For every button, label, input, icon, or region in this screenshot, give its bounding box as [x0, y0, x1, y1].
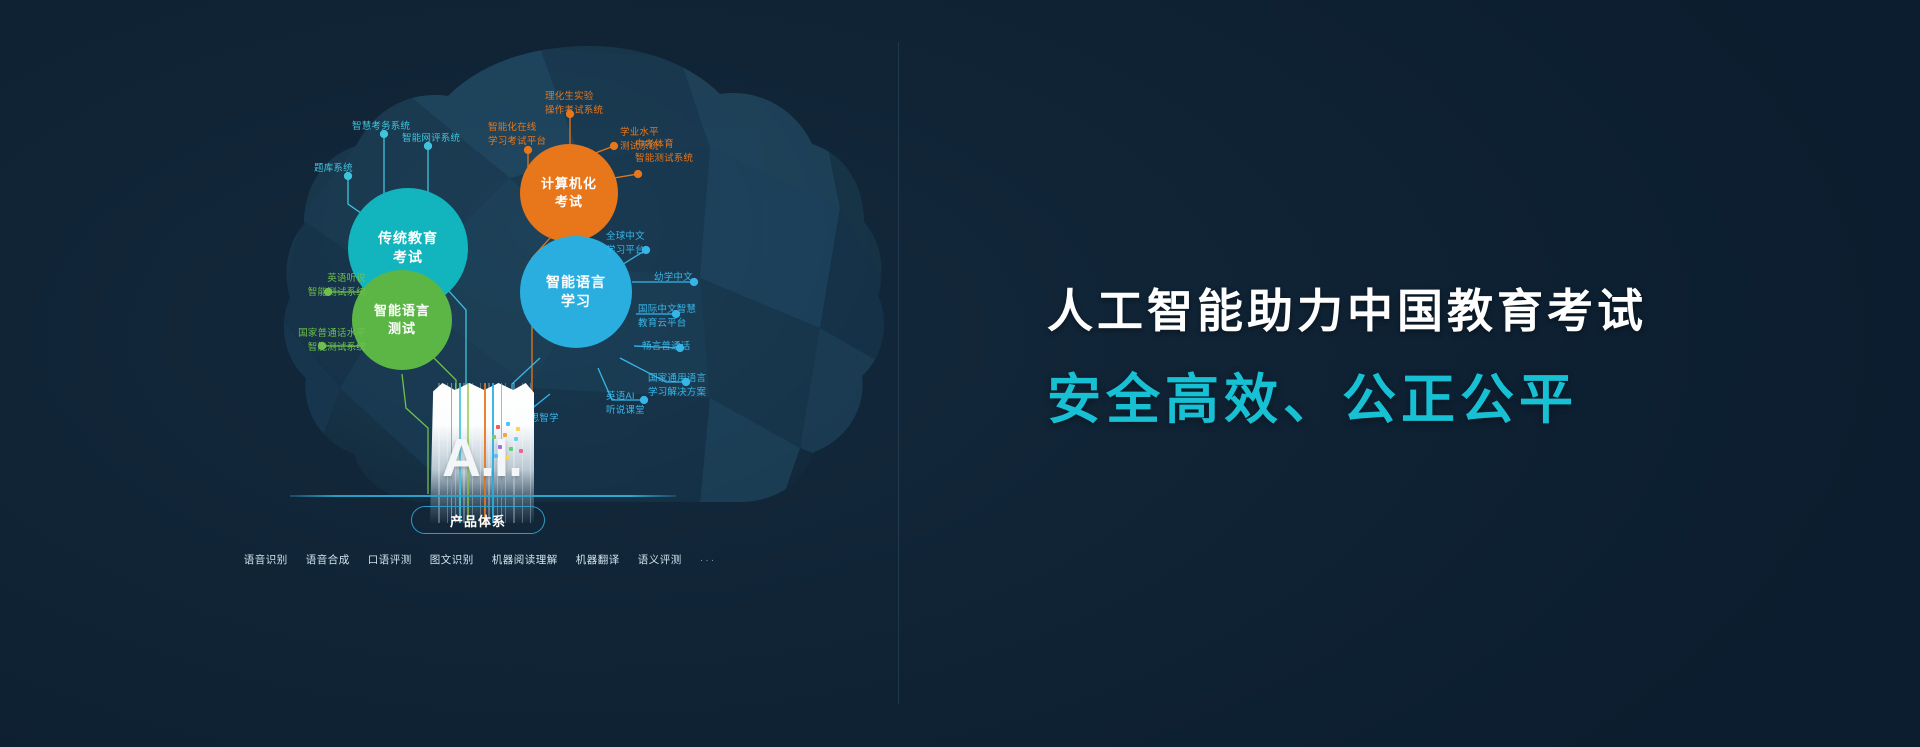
tag-item[interactable]: 语音合成	[306, 552, 350, 567]
sparkle-icons	[490, 421, 530, 461]
capability-tag-list: 语音识别 语音合成 口语评测 图文识别 机器阅读理解 机器翻译 语义评测 ···	[280, 552, 680, 567]
leaf-label-zaixian-pingtai[interactable]: 智能化在线 学习考试平台	[488, 121, 546, 149]
tag-item[interactable]: 口语评测	[368, 552, 412, 567]
headline-secondary: 安全高效、公正公平	[1047, 371, 1807, 430]
node-label-line2: 考试	[555, 193, 583, 211]
leaf-label-guojia-tongyong[interactable]: 国家通用语言 学习解决方案	[648, 372, 706, 400]
horizontal-rule	[290, 495, 676, 497]
node-label-line1: 智能语言	[374, 302, 430, 320]
node-label-line1: 传统教育	[378, 229, 438, 248]
ai-trunk: A.I.	[430, 383, 534, 523]
brain-tree-diagram: 传统教育 考试 计算机化 考试 智能语言 学习 智能语言 测试 智慧考务系统 智…	[280, 28, 900, 728]
leaf-label-changyan[interactable]: 畅言普通话	[642, 340, 691, 354]
node-label-line1: 计算机化	[541, 175, 597, 193]
product-system-badge[interactable]: 产品体系	[411, 506, 545, 534]
tag-item[interactable]: 语音识别	[244, 552, 288, 567]
leaf-label-yingyu-tingshuo[interactable]: 英语听说 智能测试系统	[280, 272, 366, 300]
tag-item[interactable]: 图文识别	[430, 552, 474, 567]
leaf-label-guojia-putonghua[interactable]: 国家普通话水平 智能测试系统	[280, 327, 366, 355]
tag-item[interactable]: 语义评测	[638, 552, 682, 567]
node-label-line1: 智能语言	[546, 273, 606, 292]
headline-primary: 人工智能助力中国教育考试	[1047, 286, 1807, 337]
leaf-label-yingyu-ai[interactable]: 英语AI 听说课堂	[606, 390, 645, 418]
node-label-line2: 学习	[561, 292, 591, 311]
headline-block: 人工智能助力中国教育考试 安全高效、公正公平	[1047, 286, 1807, 430]
tag-item[interactable]: 机器翻译	[576, 552, 620, 567]
leaf-label-zhongkao-tiyu[interactable]: 中考体育 智能测试系统	[635, 138, 693, 166]
leaf-label-tiku[interactable]: 题库系统	[314, 162, 353, 176]
node-label-line2: 考试	[393, 248, 423, 267]
tag-item-more[interactable]: ···	[700, 554, 717, 566]
leaf-label-zhineng-wangping[interactable]: 智能网评系统	[402, 132, 460, 146]
node-intelligent-language-testing[interactable]: 智能语言 测试	[352, 270, 452, 370]
leaf-label-quanqiu-zhongwen[interactable]: 全球中文 学习平台	[606, 230, 645, 258]
hero-banner: 传统教育 考试 计算机化 考试 智能语言 学习 智能语言 测试 智慧考务系统 智…	[0, 0, 1920, 747]
node-computerized-exam[interactable]: 计算机化 考试	[520, 144, 618, 242]
tag-item[interactable]: 机器阅读理解	[492, 552, 558, 567]
leaf-label-lihuasheng[interactable]: 理化生实验 操作考试系统	[545, 90, 603, 118]
leaf-label-guoji-zhongwen[interactable]: 国际中文智慧 教育云平台	[638, 303, 696, 331]
leaf-label-youxue-zhongwen[interactable]: 幼学中文	[654, 271, 693, 285]
node-label-line2: 测试	[388, 320, 416, 338]
